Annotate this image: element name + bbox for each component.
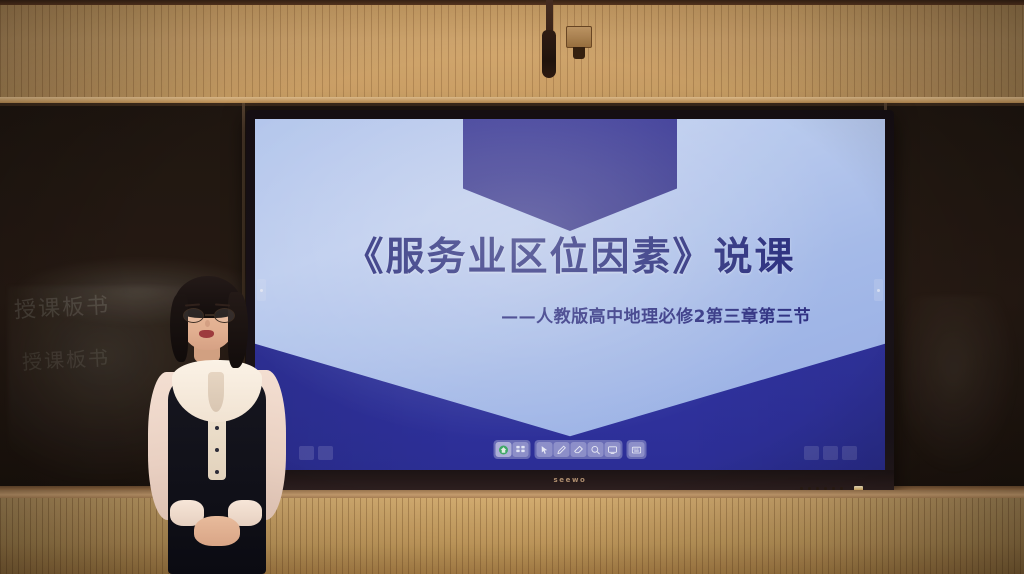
- slide-pentagon-banner: [463, 119, 677, 231]
- collar-notch: [208, 372, 224, 412]
- pull-out-handle-right[interactable]: [874, 279, 883, 301]
- ceiling-trim: [0, 0, 1024, 5]
- handle-dot-right: [877, 289, 880, 292]
- microphone-icon: [542, 30, 556, 78]
- corner-buttons-left[interactable]: [299, 446, 333, 460]
- whiteboard-floating-toolbar[interactable]: [494, 440, 647, 459]
- slide-text-block: 《服务业区位因素》说课 ——人教版高中地理必修2第三章第三节: [255, 235, 885, 327]
- glasses-bridge: [205, 314, 214, 316]
- screen-icon[interactable]: [605, 442, 621, 457]
- chalk-writing: 授课板书: [13, 288, 111, 325]
- ghost-button-5[interactable]: [842, 446, 857, 460]
- upper-wall-shading: [0, 0, 1024, 100]
- mouth: [199, 330, 214, 338]
- slide-subtitle: ——人教版高中地理必修2第三章第三节: [295, 302, 845, 327]
- seewo-brand-logo: seewo: [554, 476, 587, 484]
- wall-speaker-icon: [566, 26, 592, 48]
- corner-buttons-right[interactable]: [804, 446, 857, 460]
- vest-button-1: [215, 426, 219, 430]
- slide-title: 《服务业区位因素》说课: [295, 235, 845, 282]
- home-icon[interactable]: [496, 442, 512, 457]
- toolbar-tools-group[interactable]: [535, 440, 623, 459]
- magnifier-icon[interactable]: [588, 442, 604, 457]
- classroom-scene: 授课板书 授课板书 《服务业区位因素》说课 ——人教版高中地理必修2第三章第三节: [0, 0, 1024, 574]
- hair-right: [228, 292, 248, 368]
- interactive-flat-panel[interactable]: 《服务业区位因素》说课 ——人教版高中地理必修2第三章第三节: [246, 110, 894, 490]
- eraser-icon[interactable]: [571, 442, 587, 457]
- panel-chin: seewo: [246, 470, 894, 490]
- vest-button-2: [215, 448, 219, 452]
- teacher-presenter: [136, 276, 296, 574]
- ghost-button-4[interactable]: [823, 446, 838, 460]
- speaker-bracket: [573, 47, 585, 59]
- clasped-hands: [194, 516, 240, 546]
- ghost-button-3[interactable]: [804, 446, 819, 460]
- pen-icon[interactable]: [554, 442, 570, 457]
- ghost-button-2[interactable]: [318, 446, 333, 460]
- chalk-writing-line2: 授课板书: [21, 342, 110, 376]
- keyboard-icon[interactable]: [629, 442, 645, 457]
- vest-button-3: [215, 470, 219, 474]
- lens-right: [214, 308, 235, 323]
- apps-grid-icon[interactable]: [513, 442, 529, 457]
- cursor-icon[interactable]: [537, 442, 553, 457]
- toolbar-more-group[interactable]: [627, 440, 647, 459]
- chalk-smudge-right: [900, 296, 1020, 476]
- lens-left: [183, 308, 204, 323]
- nose: [205, 320, 210, 327]
- ghost-button-1[interactable]: [299, 446, 314, 460]
- microphone-stem: [546, 0, 553, 34]
- toolbar-app-group[interactable]: [494, 440, 531, 459]
- panel-screen[interactable]: 《服务业区位因素》说课 ——人教版高中地理必修2第三章第三节: [255, 119, 885, 470]
